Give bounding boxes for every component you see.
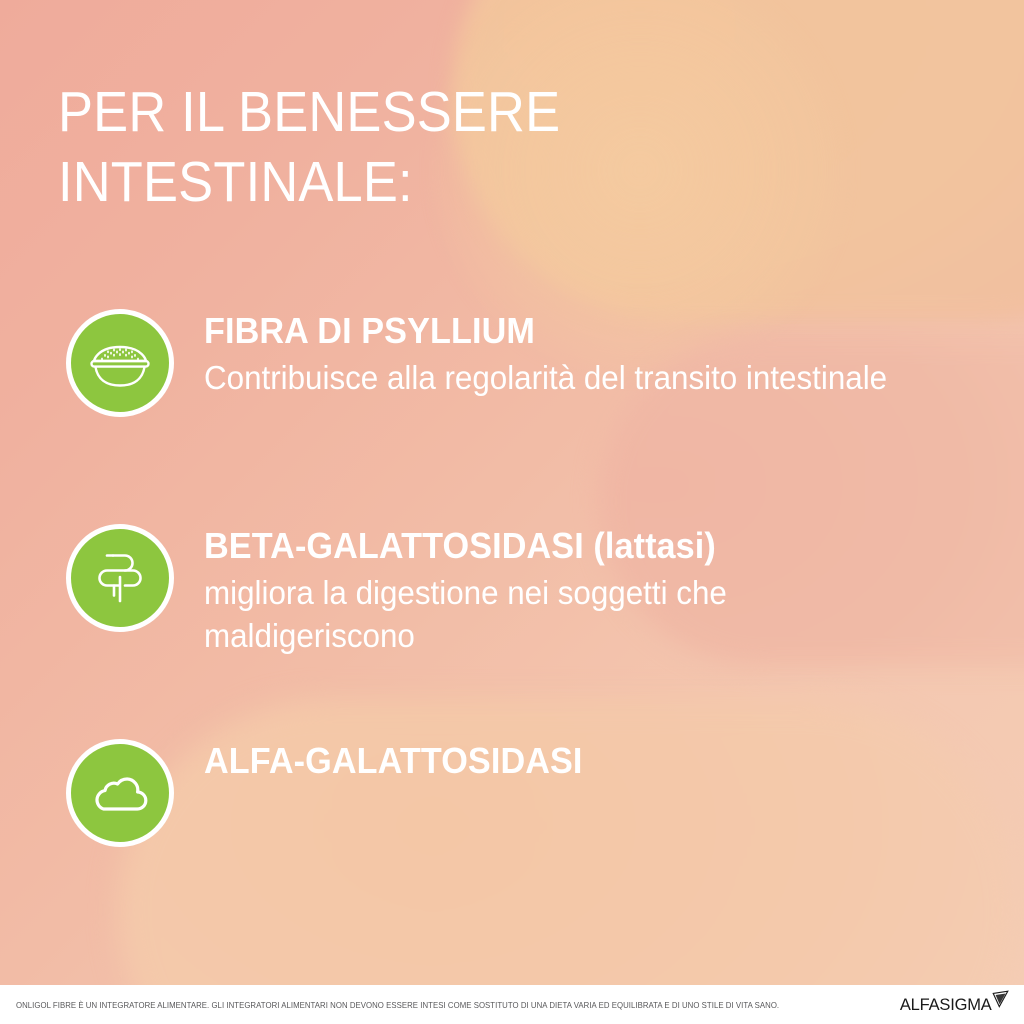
bowl-of-grains-icon — [89, 338, 151, 388]
feature-text: BETA-GALATTOSIDASI (lattasi) migliora la… — [204, 522, 926, 657]
footer-disclaimer-text: ONLIGOL FIBRE È UN INTEGRATORE ALIMENTAR… — [16, 1000, 779, 1010]
feature-title: BETA-GALATTOSIDASI (lattasi) — [204, 526, 926, 566]
feature-text: FIBRA DI PSYLLIUM Contribuisce alla rego… — [204, 307, 887, 400]
poster-canvas: PER IL BENESSERE INTESTINALE: — [0, 0, 1024, 1024]
cloud-icon — [91, 772, 149, 814]
feature-title: FIBRA DI PSYLLIUM — [204, 311, 887, 351]
feature-icon-badge — [66, 739, 174, 847]
footer-bar: ONLIGOL FIBRE È UN INTEGRATORE ALIMENTAR… — [0, 985, 1024, 1024]
feature-row-alfa-galattosidasi: ALFA-GALATTOSIDASI — [66, 737, 966, 847]
enzyme-molecule-icon — [96, 551, 144, 605]
feature-description: Contribuisce alla regolarità del transit… — [204, 357, 887, 399]
alfasigma-logo: ALFASIGMA — [897, 995, 1010, 1015]
triangle-logo-icon — [991, 990, 1010, 1014]
feature-description: migliora la digestione nei soggetti che … — [204, 572, 926, 656]
feature-icon-badge — [66, 524, 174, 632]
alfasigma-logo-text: ALFASIGMA — [900, 995, 992, 1015]
feature-title: ALFA-GALATTOSIDASI — [204, 741, 583, 781]
page-title: PER IL BENESSERE INTESTINALE: — [58, 78, 702, 217]
feature-row-beta-galattosidasi: BETA-GALATTOSIDASI (lattasi) migliora la… — [66, 522, 966, 657]
feature-text: ALFA-GALATTOSIDASI — [204, 737, 583, 781]
feature-row-fibra-di-psyllium: FIBRA DI PSYLLIUM Contribuisce alla rego… — [66, 307, 966, 417]
feature-icon-badge — [66, 309, 174, 417]
